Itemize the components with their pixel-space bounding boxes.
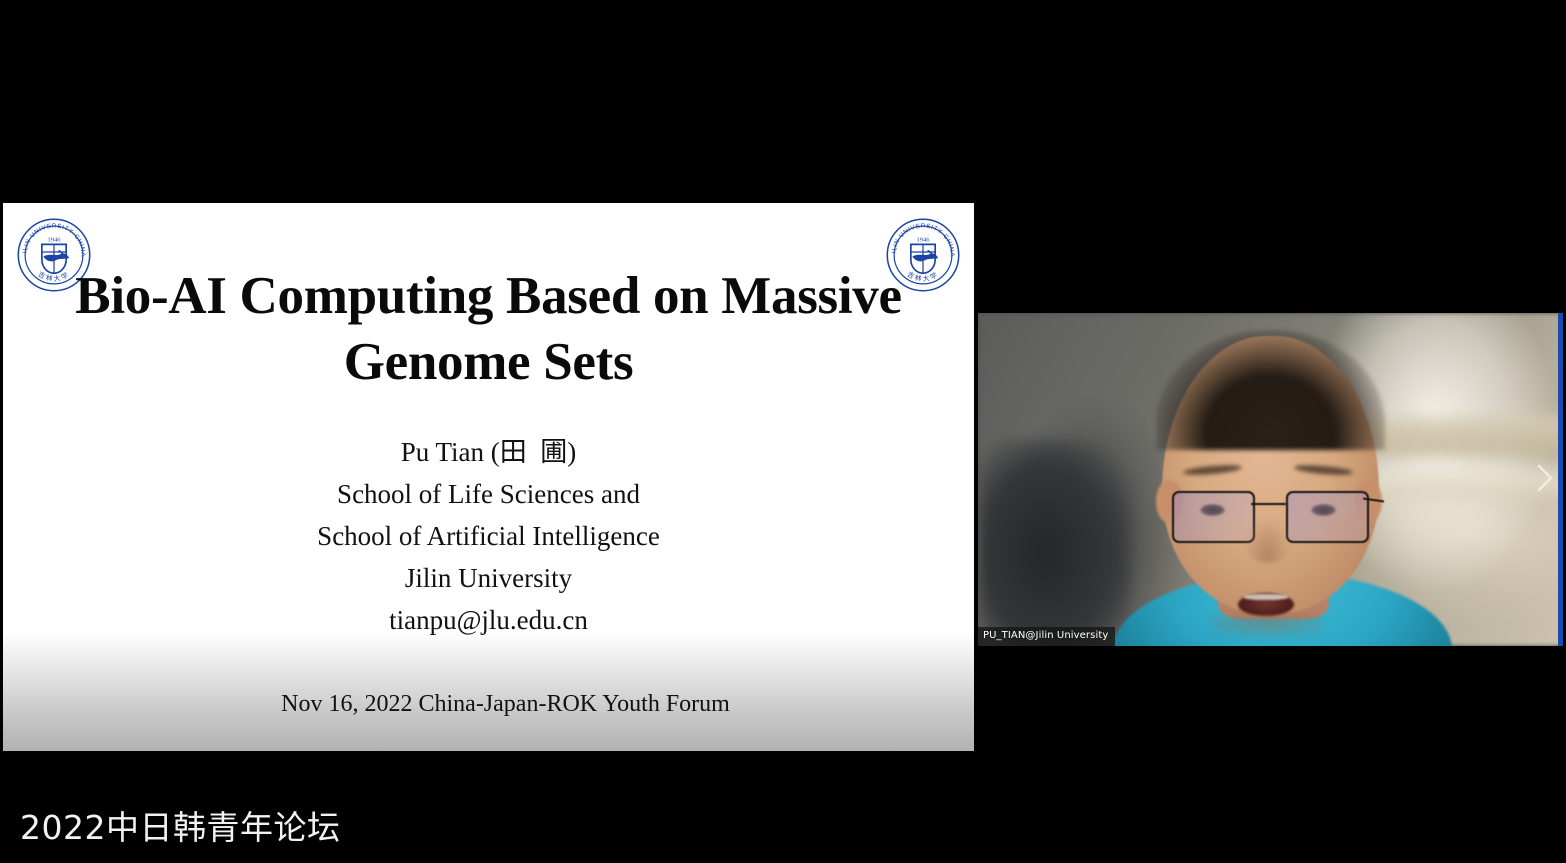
subtitle-line-school-2: School of Artificial Intelligence <box>3 515 974 557</box>
glasses-lens-left <box>1172 491 1255 543</box>
svg-text:1946: 1946 <box>917 237 931 244</box>
participant-figure <box>978 313 1563 646</box>
slide-footer-event: Nov 16, 2022 China-Japan-ROK Youth Forum <box>3 691 974 718</box>
screen-root: JILIN UNIVERSITY·CHINA 吉林大学 1946 <box>0 0 1566 863</box>
participant-nose <box>1244 519 1291 562</box>
slide-title: Bio-AI Computing Based on Massive Genome… <box>3 263 974 395</box>
glasses-bridge <box>1251 503 1286 506</box>
video-participant-tile[interactable]: PU_TIAN@Jilin University <box>978 313 1563 646</box>
chevron-right-icon[interactable] <box>1532 461 1558 495</box>
participant-name-badge: PU_TIAN@Jilin University <box>978 627 1115 646</box>
subtitle-line-university: Jilin University <box>3 557 974 599</box>
bottom-caption: 2022中日韩青年论坛 <box>20 806 340 850</box>
slide-subtitle-block: Pu Tian (田 圃) School of Life Sciences an… <box>3 431 974 641</box>
participant-hair <box>1156 330 1384 450</box>
subtitle-line-school-1: School of Life Sciences and <box>3 473 974 515</box>
svg-text:1946: 1946 <box>48 237 62 244</box>
subtitle-line-email: tianpu@jlu.edu.cn <box>3 599 974 641</box>
slide-content: JILIN UNIVERSITY·CHINA 吉林大学 1946 <box>3 203 974 751</box>
glasses-lens-right <box>1286 491 1369 543</box>
right-accent-bar <box>1558 313 1563 646</box>
presentation-slide[interactable]: JILIN UNIVERSITY·CHINA 吉林大学 1946 <box>3 203 974 751</box>
participant-chin-shadow <box>1212 616 1323 636</box>
participant-teeth <box>1244 594 1288 600</box>
subtitle-line-author: Pu Tian (田 圃) <box>3 431 974 473</box>
